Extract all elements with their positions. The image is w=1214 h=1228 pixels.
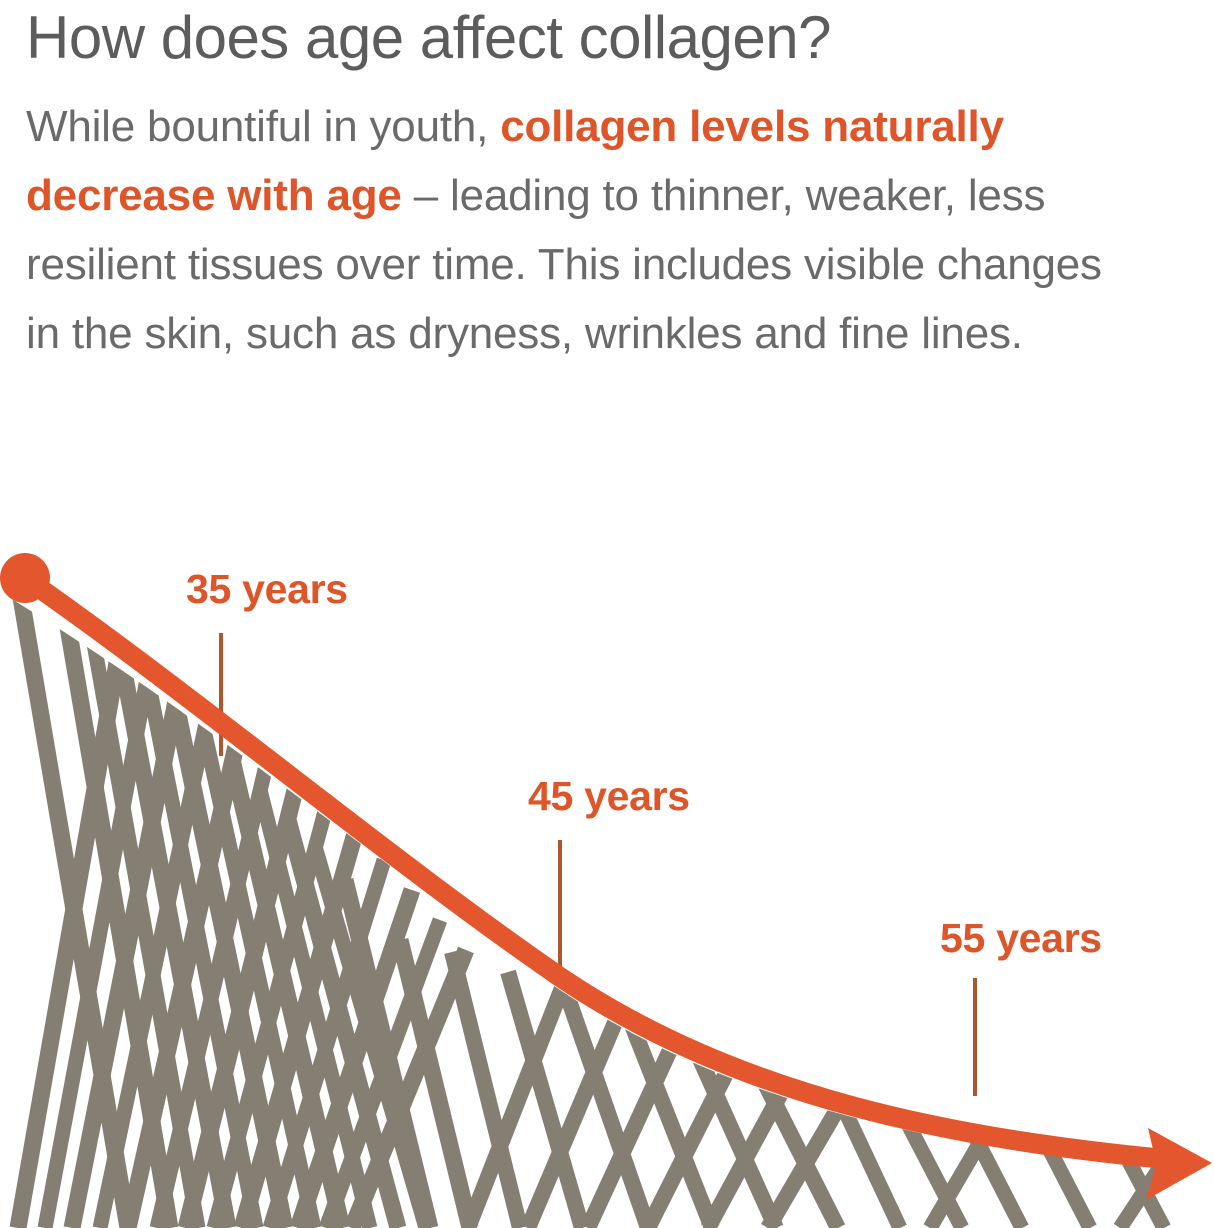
collagen-age-infographic: How does age affect collagen? While boun… <box>0 0 1214 1228</box>
mesh-cluster-sparse-right <box>822 1062 1186 1228</box>
age-label-45: 45 years <box>528 773 690 819</box>
age-label-55: 55 years <box>940 915 1102 961</box>
arrow-right-icon <box>1146 1128 1212 1200</box>
text-block: How does age affect collagen? While boun… <box>26 0 1166 368</box>
mesh-cluster-dense-left-secondary <box>45 610 440 1228</box>
mesh-cluster-medium-mid <box>452 952 858 1228</box>
collagen-fibre-mesh <box>18 580 1186 1228</box>
page-title: How does age affect collagen? <box>26 0 1166 74</box>
age-label-35: 35 years <box>186 566 348 612</box>
collagen-decline-curve <box>25 578 1175 1160</box>
mesh-cluster-dense-left <box>18 580 470 1228</box>
body-paragraph: While bountiful in youth, collagen level… <box>26 74 1146 368</box>
annotation-leader-lines <box>221 633 975 1096</box>
body-text-part-1: While bountiful in youth, <box>26 102 500 151</box>
circle-marker-icon <box>0 553 50 603</box>
